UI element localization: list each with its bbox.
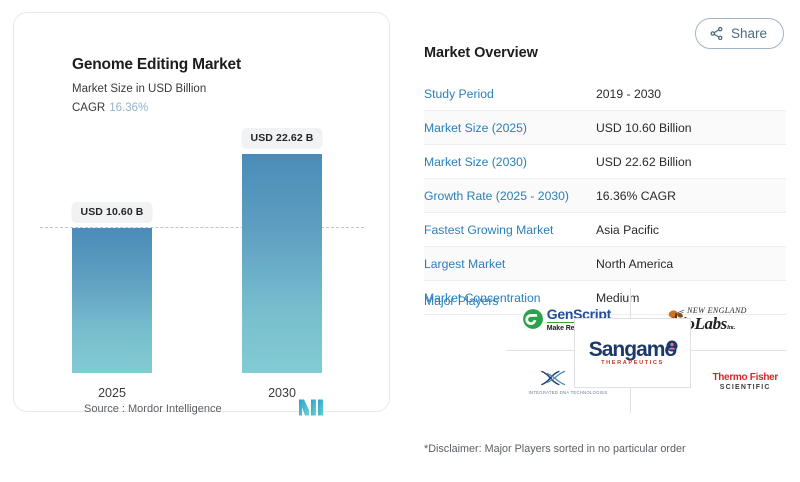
player-tagline-thermo-fisher: SCIENTIFIC (712, 384, 778, 391)
overview-key: Growth Rate (2025 - 2030) (424, 179, 596, 213)
player-tagline-idt: INTEGRATED DNA TECHNOLOGIES (529, 391, 608, 395)
bar-group-2030: USD 22.62 B 2030 (242, 154, 322, 373)
cagr-value: 16.36% (109, 102, 148, 114)
source-note: Source : Mordor Intelligence (84, 403, 222, 415)
bar-2030[interactable] (242, 154, 322, 373)
player-name-sangamo: Sangamo (589, 339, 677, 360)
overview-value: Asia Pacific (596, 213, 786, 247)
mordor-intelligence-logo (298, 399, 324, 416)
bar-label-2030: USD 22.62 B (242, 128, 323, 149)
chart-card: Genome Editing Market Market Size in USD… (13, 12, 390, 412)
genscript-mark-icon (522, 308, 544, 330)
bar-chart-plot: USD 10.60 B 2025 USD 22.62 B 2030 (32, 118, 372, 373)
overview-key: Study Period (424, 77, 596, 111)
chart-subtitle: Market Size in USD Billion (72, 83, 206, 95)
overview-value: 2019 - 2030 (596, 77, 786, 111)
table-row: Market Size (2030) USD 22.62 Billion (424, 145, 786, 179)
cagr-row: CAGR16.36% (72, 102, 148, 114)
bar-label-2025: USD 10.60 B (72, 202, 153, 223)
overview-table: Study Period 2019 - 2030 Market Size (20… (424, 77, 786, 315)
x-axis-label-2030: 2030 (268, 386, 296, 400)
major-players-label: Major Players (424, 294, 499, 308)
table-row: Largest Market North America (424, 247, 786, 281)
table-row: Market Size (2025) USD 10.60 Billion (424, 111, 786, 145)
share-icon (709, 26, 724, 41)
sangamo-mark-icon (666, 340, 678, 352)
chart-title: Genome Editing Market (72, 56, 241, 74)
overview-value: North America (596, 247, 786, 281)
player-name-neb-suffix: Inc. (727, 325, 735, 331)
market-snapshot-page: Genome Editing Market Market Size in USD… (0, 0, 800, 482)
overview-value: 16.36% CAGR (596, 179, 786, 213)
table-row: Study Period 2019 - 2030 (424, 77, 786, 111)
overview-key: Largest Market (424, 247, 596, 281)
major-players-logo-grid: GenScript Make Research Easy (506, 288, 786, 413)
share-button-label: Share (731, 26, 767, 41)
overview-key: Fastest Growing Market (424, 213, 596, 247)
bar-group-2025: USD 10.60 B 2025 (72, 228, 152, 373)
table-row: Growth Rate (2025 - 2030) 16.36% CAGR (424, 179, 786, 213)
overview-key: Market Size (2030) (424, 145, 596, 179)
player-name-thermo-fisher: Thermo Fisher (712, 373, 778, 383)
overview-key: Market Size (2025) (424, 111, 596, 145)
overview-title: Market Overview (424, 45, 786, 61)
overview-value: USD 10.60 Billion (596, 111, 786, 145)
player-logo-sangamo: Sangamo THERAPEUTICS (574, 318, 691, 388)
player-tagline-sangamo: THERAPEUTICS (589, 361, 677, 367)
major-players-block: Major Players GenScript Make Research Ea… (424, 288, 786, 416)
disclaimer-note: *Disclaimer: Major Players sorted in no … (424, 443, 686, 455)
cagr-label: CAGR (72, 102, 105, 114)
bar-2025[interactable] (72, 228, 152, 373)
table-row: Fastest Growing Market Asia Pacific (424, 213, 786, 247)
overview-value: USD 22.62 Billion (596, 145, 786, 179)
dna-helix-icon (539, 369, 573, 387)
x-axis-label-2025: 2025 (98, 386, 126, 400)
market-overview-panel: Market Overview Study Period 2019 - 2030… (424, 45, 786, 315)
